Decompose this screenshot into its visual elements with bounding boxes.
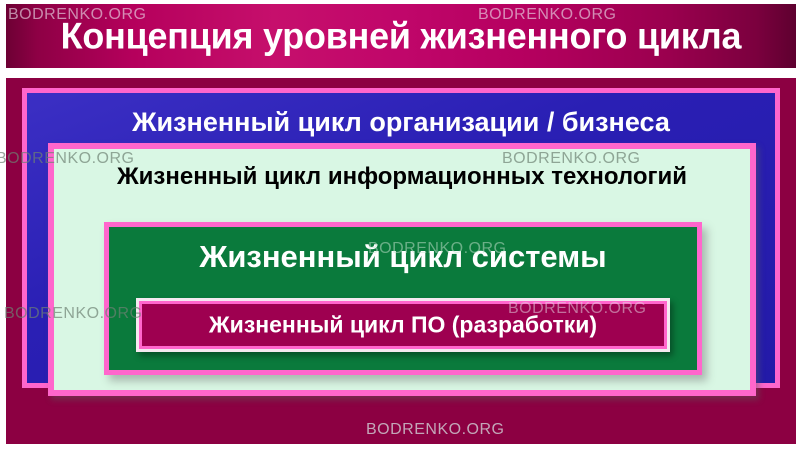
level-system-label: Жизненный цикл системы xyxy=(109,241,697,272)
slide-canvas: Концепция уровней жизненного цикла Жизне… xyxy=(0,0,802,451)
slide-title: Концепция уровней жизненного цикла xyxy=(18,18,784,55)
level-information-technology-label: Жизненный цикл информационных технологий xyxy=(54,165,750,189)
level-software-label: Жизненный цикл ПО (разработки) xyxy=(142,314,664,337)
level-organization-label: Жизненный цикл организации / бизнеса xyxy=(27,109,775,136)
slide-title-banner: Концепция уровней жизненного цикла xyxy=(6,4,796,68)
level-software-panel[interactable]: Жизненный цикл ПО (разработки) xyxy=(142,304,664,346)
